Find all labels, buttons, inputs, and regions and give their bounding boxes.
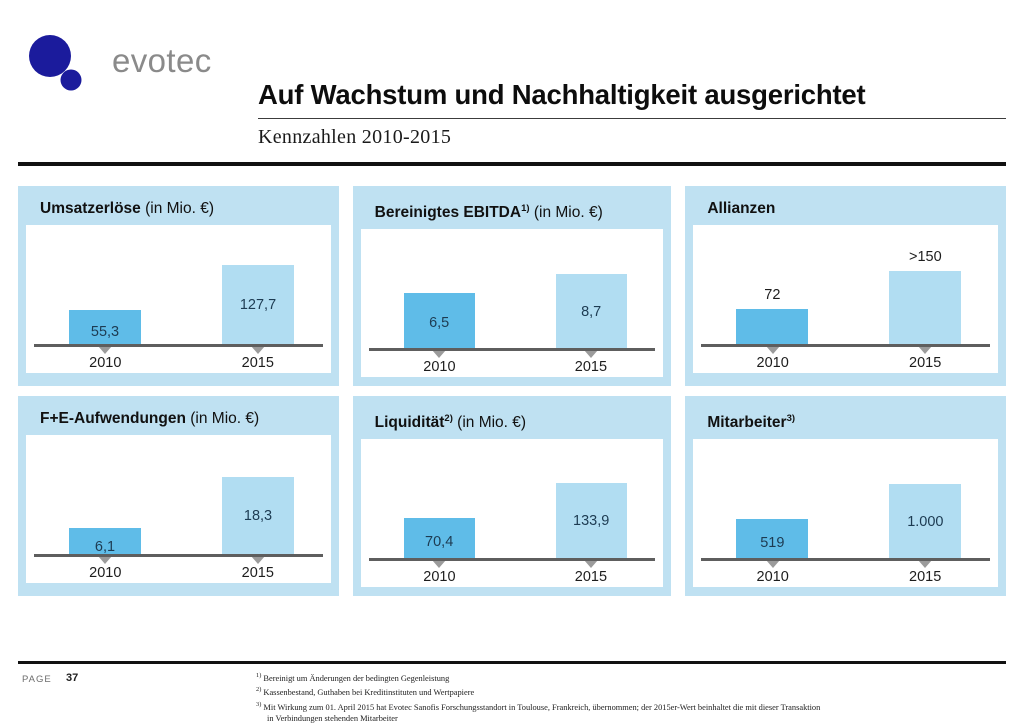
footnote-3-continuation: in Verbindungen stehenden Mitarbeiter bbox=[256, 713, 1024, 725]
card-title-main: Bereinigtes EBITDA bbox=[375, 204, 521, 221]
slide-header: evotec Auf Wachstum und Nachhaltigkeit a… bbox=[0, 0, 1024, 170]
bar-2010 bbox=[736, 309, 808, 344]
footnote-text: Mit Wirkung zum 01. April 2015 hat Evote… bbox=[261, 703, 820, 712]
footnote-text: Bereinigt um Änderungen der bedingten Ge… bbox=[261, 674, 449, 683]
card-title: Liquidität2) (in Mio. €) bbox=[361, 403, 664, 439]
footer-divider bbox=[18, 661, 1006, 664]
kpi-card-mitarbeiter[interactable]: Mitarbeiter3)51920101.0002015 bbox=[685, 396, 1006, 596]
card-title-footnote-marker: 2) bbox=[444, 413, 452, 424]
bar-value-label-2010: 6,1 bbox=[69, 539, 141, 555]
bar-value-label-2010: 72 bbox=[736, 287, 808, 303]
card-title: Umsatzerlöse (in Mio. €) bbox=[26, 193, 331, 225]
card-title-main: Allianzen bbox=[707, 200, 775, 217]
bar-2015 bbox=[889, 271, 961, 344]
page-subtitle: Kennzahlen 2010-2015 bbox=[258, 124, 1006, 150]
logo-wordmark: evotec bbox=[112, 42, 212, 80]
axis-tick-label-2015: 2015 bbox=[218, 565, 298, 581]
bar-value-label-2010: 70,4 bbox=[404, 534, 475, 550]
card-title: Allianzen bbox=[693, 193, 998, 225]
footnote-list: 1) Bereinigt um Änderungen der bedingten… bbox=[256, 670, 1024, 725]
axis-tick-label-2015: 2015 bbox=[885, 355, 965, 371]
bar-value-label-2015: 133,9 bbox=[556, 513, 627, 529]
bar-value-label-2015: 18,3 bbox=[222, 508, 294, 524]
bar-value-label-2015: 127,7 bbox=[222, 297, 294, 313]
evotec-logo: evotec bbox=[26, 34, 196, 94]
card-title-footnote-marker: 3) bbox=[787, 413, 795, 424]
chart-plot-area: 70,42010133,92015 bbox=[361, 439, 664, 587]
chart-plot-area: 722010>1502015 bbox=[693, 225, 998, 373]
bar-value-label-2015: >150 bbox=[889, 249, 961, 265]
axis-tick-label-2010: 2010 bbox=[733, 569, 813, 585]
kpi-card-grid: Umsatzerlöse (in Mio. €)55,32010127,7201… bbox=[18, 186, 1006, 606]
chart-plot-area: 51920101.0002015 bbox=[693, 439, 998, 587]
bar-value-label-2010: 6,5 bbox=[404, 315, 475, 331]
axis-tick-marker-2015 bbox=[251, 346, 265, 354]
axis-tick-label-2010: 2010 bbox=[733, 355, 813, 371]
footnote-1: 1) Bereinigt um Änderungen der bedingten… bbox=[256, 670, 1024, 684]
logo-mark-icon bbox=[26, 34, 86, 92]
card-title: Mitarbeiter3) bbox=[693, 403, 998, 439]
bar-value-label-2010: 519 bbox=[736, 535, 808, 551]
chart-axis-line bbox=[369, 348, 656, 351]
card-title-unit: (in Mio. €) bbox=[453, 414, 526, 431]
card-title-unit: (in Mio. €) bbox=[141, 200, 214, 217]
axis-tick-label-2015: 2015 bbox=[551, 569, 631, 585]
kpi-card-fe-aufwendungen[interactable]: F+E-Aufwendungen (in Mio. €)6,1201018,32… bbox=[18, 396, 339, 596]
axis-tick-label-2015: 2015 bbox=[551, 359, 631, 375]
axis-tick-marker-2010 bbox=[766, 560, 780, 568]
axis-tick-label-2015: 2015 bbox=[218, 355, 298, 371]
kpi-card-allianzen[interactable]: Allianzen722010>1502015 bbox=[685, 186, 1006, 386]
chart-plot-area: 55,32010127,72015 bbox=[26, 225, 331, 373]
kpi-card-liquiditaet[interactable]: Liquidität2) (in Mio. €)70,42010133,9201… bbox=[353, 396, 672, 596]
axis-tick-marker-2010 bbox=[766, 346, 780, 354]
chart-axis-line bbox=[34, 554, 323, 557]
chart-plot-area: 6,520108,72015 bbox=[361, 229, 664, 377]
chart-axis-line bbox=[34, 344, 323, 347]
card-title-main: Mitarbeiter bbox=[707, 414, 786, 431]
axis-tick-marker-2015 bbox=[251, 556, 265, 564]
footnote-2: 2) Kassenbestand, Guthaben bei Kreditins… bbox=[256, 684, 1024, 698]
axis-tick-marker-2015 bbox=[918, 346, 932, 354]
card-title-unit: (in Mio. €) bbox=[186, 410, 259, 427]
axis-tick-label-2015: 2015 bbox=[885, 569, 965, 585]
chart-axis-line bbox=[701, 344, 990, 347]
axis-tick-marker-2010 bbox=[98, 346, 112, 354]
header-divider bbox=[18, 162, 1006, 166]
axis-tick-marker-2010 bbox=[432, 350, 446, 358]
bar-value-label-2015: 1.000 bbox=[889, 514, 961, 530]
card-title-main: Umsatzerlöse bbox=[40, 200, 141, 217]
card-title: F+E-Aufwendungen (in Mio. €) bbox=[26, 403, 331, 435]
axis-tick-label-2010: 2010 bbox=[399, 569, 479, 585]
footnote-text: Kassenbestand, Guthaben bei Kreditinstit… bbox=[261, 688, 474, 697]
bar-value-label-2010: 55,3 bbox=[69, 324, 141, 340]
kpi-card-row-1: Umsatzerlöse (in Mio. €)55,32010127,7201… bbox=[18, 186, 1006, 386]
title-block: Auf Wachstum und Nachhaltigkeit ausgeric… bbox=[258, 78, 1006, 150]
chart-axis-line bbox=[701, 558, 990, 561]
chart-axis-line bbox=[369, 558, 656, 561]
card-title-footnote-marker: 1) bbox=[521, 203, 529, 214]
card-title: Bereinigtes EBITDA1) (in Mio. €) bbox=[361, 193, 664, 229]
axis-tick-marker-2015 bbox=[584, 350, 598, 358]
page-number: 37 bbox=[66, 672, 78, 684]
axis-tick-label-2010: 2010 bbox=[65, 355, 145, 371]
axis-tick-marker-2015 bbox=[584, 560, 598, 568]
page-label: PAGE bbox=[22, 674, 52, 685]
bar-value-label-2015: 8,7 bbox=[556, 304, 627, 320]
title-divider bbox=[258, 118, 1006, 119]
kpi-card-bereinigtes-ebitda[interactable]: Bereinigtes EBITDA1) (in Mio. €)6,520108… bbox=[353, 186, 672, 386]
card-title-main: F+E-Aufwendungen bbox=[40, 410, 186, 427]
footnote-3: 3) Mit Wirkung zum 01. April 2015 hat Ev… bbox=[256, 699, 1024, 713]
kpi-card-umsatzerloese[interactable]: Umsatzerlöse (in Mio. €)55,32010127,7201… bbox=[18, 186, 339, 386]
axis-tick-marker-2015 bbox=[918, 560, 932, 568]
page-title: Auf Wachstum und Nachhaltigkeit ausgeric… bbox=[258, 78, 1006, 112]
card-title-main: Liquidität bbox=[375, 414, 445, 431]
axis-tick-label-2010: 2010 bbox=[65, 565, 145, 581]
axis-tick-marker-2010 bbox=[432, 560, 446, 568]
chart-plot-area: 6,1201018,32015 bbox=[26, 435, 331, 583]
axis-tick-label-2010: 2010 bbox=[399, 359, 479, 375]
kpi-card-row-2: F+E-Aufwendungen (in Mio. €)6,1201018,32… bbox=[18, 396, 1006, 596]
card-title-unit: (in Mio. €) bbox=[530, 204, 603, 221]
axis-tick-marker-2010 bbox=[98, 556, 112, 564]
